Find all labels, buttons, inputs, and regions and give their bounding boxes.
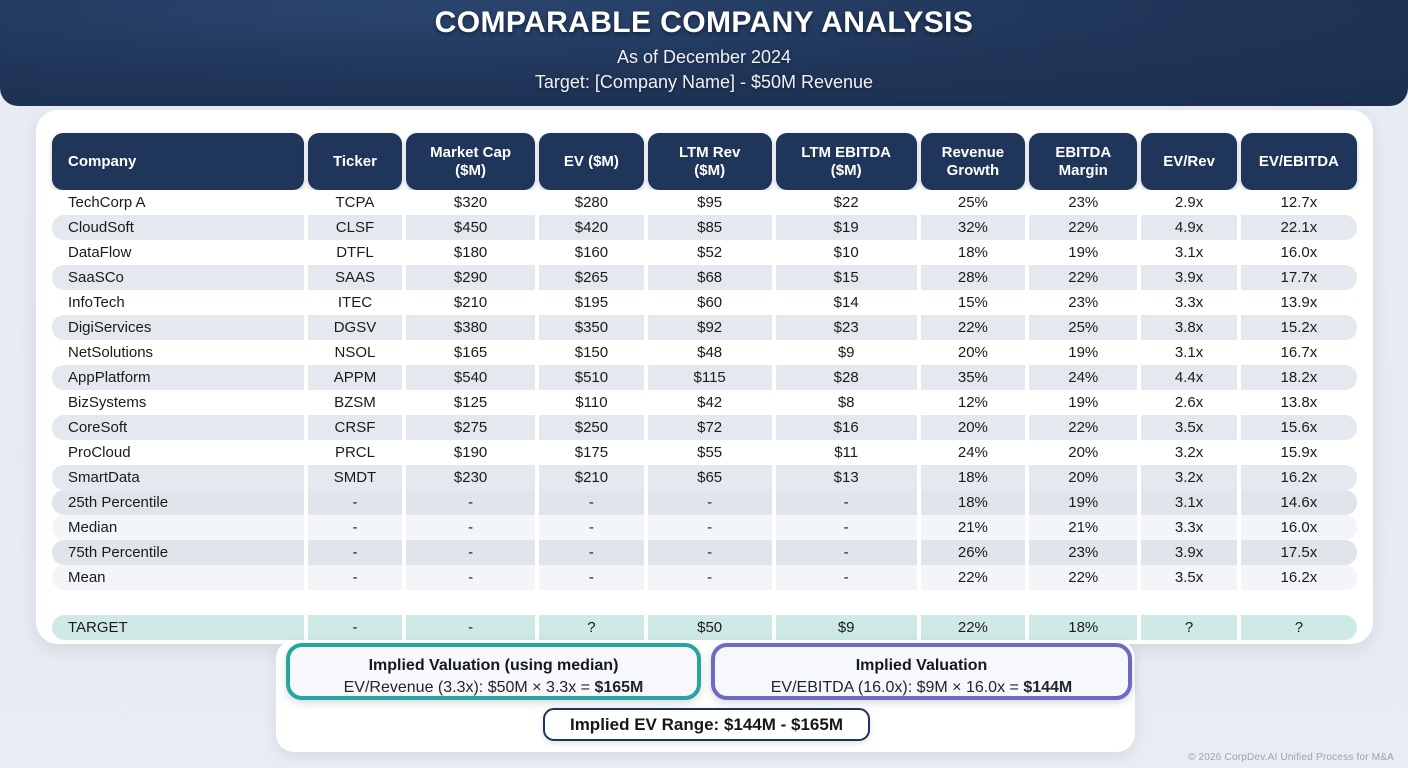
cell-ltm-ebitda-m: $23 [776,315,917,340]
cell-ev-ebitda: 14.6x [1241,490,1357,515]
table-header-row: CompanyTickerMarket Cap($M)EV ($M)LTM Re… [52,133,1357,190]
table-row[interactable]: SmartDataSMDT$230$210$65$1318%20%3.2x16.… [52,465,1357,490]
cell-revenue-growth: 18% [921,240,1025,265]
column-header-ltm-ebitda-m[interactable]: LTM EBITDA($M) [776,133,917,190]
median-box-detail-value: $165M [594,679,643,696]
row-label: TARGET [52,615,304,640]
cell-ebitda-margin: 21% [1029,515,1137,540]
column-header-ltm-rev-m[interactable]: LTM Rev($M) [648,133,772,190]
cell-ev-rev: 3.5x [1141,565,1236,590]
cell-ev-ebitda: 16.0x [1241,240,1357,265]
cell-ticker: DTFL [308,240,402,265]
cell-revenue-growth: 22% [921,565,1025,590]
cell-revenue-growth: 28% [921,265,1025,290]
cell-market-cap-m: $190 [406,440,535,465]
row-label: Median [52,515,304,540]
cell-ticker: - [308,515,402,540]
cell-ev-rev: 3.9x [1141,265,1236,290]
row-label: DataFlow [52,240,304,265]
cell-market-cap-m: $180 [406,240,535,265]
cell-ev-ebitda: 15.6x [1241,415,1357,440]
cell-ltm-ebitda-m: $8 [776,390,917,415]
implied-valuation-ebitda-box: Implied Valuation EV/EBITDA (16.0x): $9M… [711,643,1132,700]
cell-ebitda-margin: 19% [1029,390,1137,415]
cell-ev-m: $210 [539,465,643,490]
cell-ev-m: - [539,515,643,540]
implied-ev-range-badge: Implied EV Range: $144M - $165M [543,708,870,741]
cell-market-cap-m: $290 [406,265,535,290]
cell-ticker: APPM [308,365,402,390]
cell-ltm-ebitda-m: $19 [776,215,917,240]
row-spacer [52,590,1357,615]
cell-revenue-growth: 22% [921,615,1025,640]
row-label: InfoTech [52,290,304,315]
row-label: Mean [52,565,304,590]
cell-ev-ebitda: 13.9x [1241,290,1357,315]
cell-ltm-rev-m: $65 [648,465,772,490]
row-label: 25th Percentile [52,490,304,515]
table-body: TechCorp ATCPA$320$280$95$2225%23%2.9x12… [52,190,1357,640]
cell-revenue-growth: 22% [921,315,1025,340]
cell-revenue-growth: 18% [921,465,1025,490]
cell-ev-ebitda: 16.0x [1241,515,1357,540]
cell-ev-rev: 3.3x [1141,515,1236,540]
cell-ev-m: $195 [539,290,643,315]
cell-ev-ebitda: 13.8x [1241,390,1357,415]
cell-ltm-rev-m: $85 [648,215,772,240]
cell-ltm-ebitda-m: - [776,515,917,540]
page-title: COMPARABLE COMPANY ANALYSIS [0,6,1408,40]
table-row[interactable]: CloudSoftCLSF$450$420$85$1932%22%4.9x22.… [52,215,1357,240]
cell-revenue-growth: 26% [921,540,1025,565]
cell-ticker: SMDT [308,465,402,490]
median-box-detail: EV/Revenue (3.3x): $50M × 3.3x = $165M [290,678,697,698]
cell-market-cap-m: $275 [406,415,535,440]
cell-ticker: - [308,615,402,640]
column-header-ticker[interactable]: Ticker [308,133,402,190]
table-row[interactable]: AppPlatformAPPM$540$510$115$2835%24%4.4x… [52,365,1357,390]
cell-ebitda-margin: 22% [1029,415,1137,440]
cell-revenue-growth: 24% [921,440,1025,465]
row-spacer-cell [52,590,1357,615]
cell-ltm-rev-m: $72 [648,415,772,440]
row-label: TechCorp A [52,190,304,215]
stats-row[interactable]: 25th Percentile-----18%19%3.1x14.6x [52,490,1357,515]
column-header-ev-m[interactable]: EV ($M) [539,133,643,190]
cell-ticker: CRSF [308,415,402,440]
cell-ticker: TCPA [308,190,402,215]
cell-market-cap-m: - [406,515,535,540]
cell-ebitda-margin: 20% [1029,465,1137,490]
cell-ebitda-margin: 18% [1029,615,1137,640]
cell-ev-rev: 3.1x [1141,340,1236,365]
header-subtitle-date: As of December 2024 [0,47,1408,68]
target-row[interactable]: TARGET--?$50$922%18%?? [52,615,1357,640]
column-header-market-cap-m[interactable]: Market Cap($M) [406,133,535,190]
cell-revenue-growth: 20% [921,415,1025,440]
cell-ev-ebitda: 16.7x [1241,340,1357,365]
table-row[interactable]: ProCloudPRCL$190$175$55$1124%20%3.2x15.9… [52,440,1357,465]
cell-ev-rev: 3.1x [1141,240,1236,265]
cell-ltm-rev-m: $60 [648,290,772,315]
cell-ltm-rev-m: $92 [648,315,772,340]
column-header-ebitda-margin[interactable]: EBITDAMargin [1029,133,1137,190]
cell-market-cap-m: - [406,565,535,590]
cell-ev-rev: 3.9x [1141,540,1236,565]
cell-ticker: CLSF [308,215,402,240]
median-box-title: Implied Valuation (using median) [290,656,697,676]
cell-ltm-ebitda-m: $10 [776,240,917,265]
row-label: AppPlatform [52,365,304,390]
cell-ticker: BZSM [308,390,402,415]
cell-market-cap-m: $320 [406,190,535,215]
cell-revenue-growth: 32% [921,215,1025,240]
cell-ticker: DGSV [308,315,402,340]
cell-revenue-growth: 18% [921,490,1025,515]
cell-market-cap-m: $540 [406,365,535,390]
cell-ev-rev: 2.9x [1141,190,1236,215]
cell-ticker: ITEC [308,290,402,315]
cell-ev-m: $160 [539,240,643,265]
cell-ticker: SAAS [308,265,402,290]
column-header-revenue-growth[interactable]: RevenueGrowth [921,133,1025,190]
cell-ev-m: $250 [539,415,643,440]
cell-ebitda-margin: 23% [1029,190,1137,215]
cell-ev-rev: ? [1141,615,1236,640]
cell-ev-ebitda: 17.7x [1241,265,1357,290]
row-label: DigiServices [52,315,304,340]
cell-ltm-rev-m: $55 [648,440,772,465]
cell-market-cap-m: - [406,540,535,565]
ebitda-box-title: Implied Valuation [715,656,1128,676]
cell-market-cap-m: $210 [406,290,535,315]
cell-market-cap-m: $125 [406,390,535,415]
median-box-detail-prefix: EV/Revenue (3.3x): $50M × 3.3x = [344,679,595,696]
cell-ev-rev: 3.2x [1141,440,1236,465]
cell-ev-rev: 3.3x [1141,290,1236,315]
table-row[interactable]: InfoTechITEC$210$195$60$1415%23%3.3x13.9… [52,290,1357,315]
cell-ev-ebitda: 17.5x [1241,540,1357,565]
cell-revenue-growth: 12% [921,390,1025,415]
cell-ev-m: - [539,565,643,590]
row-label: CoreSoft [52,415,304,440]
cell-market-cap-m: $165 [406,340,535,365]
cell-ev-rev: 3.1x [1141,490,1236,515]
cell-ticker: NSOL [308,340,402,365]
cell-ev-m: $510 [539,365,643,390]
cell-market-cap-m: - [406,615,535,640]
cell-ltm-ebitda-m: $9 [776,615,917,640]
cell-revenue-growth: 35% [921,365,1025,390]
row-label: SaaSCo [52,265,304,290]
cell-ltm-rev-m: $95 [648,190,772,215]
cell-ticker: - [308,490,402,515]
cell-ev-m: $420 [539,215,643,240]
cell-ev-rev: 4.9x [1141,215,1236,240]
cell-ebitda-margin: 22% [1029,265,1137,290]
table-row[interactable]: SaaSCoSAAS$290$265$68$1528%22%3.9x17.7x [52,265,1357,290]
table-row[interactable]: DataFlowDTFL$180$160$52$1018%19%3.1x16.0… [52,240,1357,265]
cell-ev-m: - [539,540,643,565]
cell-ev-m: $150 [539,340,643,365]
header-banner: COMPARABLE COMPANY ANALYSIS As of Decemb… [0,0,1408,106]
cell-ltm-ebitda-m: $11 [776,440,917,465]
cell-ticker: PRCL [308,440,402,465]
cell-revenue-growth: 15% [921,290,1025,315]
cell-revenue-growth: 21% [921,515,1025,540]
cell-ev-rev: 4.4x [1141,365,1236,390]
column-header-company[interactable]: Company [52,133,304,190]
cell-ltm-rev-m: $68 [648,265,772,290]
cell-ltm-rev-m: $52 [648,240,772,265]
cell-ltm-ebitda-m: - [776,490,917,515]
footer-copyright: © 2026 CorpDev.AI Unified Process for M&… [1188,752,1394,763]
header-subtitle-target: Target: [Company Name] - $50M Revenue [0,72,1408,93]
cell-ev-ebitda: 16.2x [1241,565,1357,590]
cell-ebitda-margin: 23% [1029,290,1137,315]
cell-ev-rev: 3.2x [1141,465,1236,490]
column-header-ev-rev[interactable]: EV/Rev [1141,133,1236,190]
comparable-company-table: CompanyTickerMarket Cap($M)EV ($M)LTM Re… [48,133,1361,640]
cell-ltm-ebitda-m: - [776,540,917,565]
cell-ev-m: $350 [539,315,643,340]
cell-ev-m: $175 [539,440,643,465]
cell-ltm-rev-m: $115 [648,365,772,390]
cell-ltm-rev-m: - [648,565,772,590]
table-row[interactable]: CoreSoftCRSF$275$250$72$1620%22%3.5x15.6… [52,415,1357,440]
cell-ebitda-margin: 24% [1029,365,1137,390]
row-label: 75th Percentile [52,540,304,565]
cell-ebitda-margin: 19% [1029,490,1137,515]
column-header-ev-ebitda[interactable]: EV/EBITDA [1241,133,1357,190]
cell-ltm-rev-m: - [648,540,772,565]
cell-market-cap-m: - [406,490,535,515]
cell-ebitda-margin: 25% [1029,315,1137,340]
table-row[interactable]: DigiServicesDGSV$380$350$92$2322%25%3.8x… [52,315,1357,340]
cell-ltm-rev-m: $48 [648,340,772,365]
cell-ev-m: $280 [539,190,643,215]
cell-ltm-ebitda-m: $28 [776,365,917,390]
cell-ltm-rev-m: $42 [648,390,772,415]
cell-ev-ebitda: 18.2x [1241,365,1357,390]
cell-ltm-rev-m: $50 [648,615,772,640]
implied-valuation-median-box: Implied Valuation (using median) EV/Reve… [286,643,701,700]
cell-ebitda-margin: 22% [1029,215,1137,240]
ebitda-box-detail: EV/EBITDA (16.0x): $9M × 16.0x = $144M [715,678,1128,698]
row-label: NetSolutions [52,340,304,365]
table-row[interactable]: BizSystemsBZSM$125$110$42$812%19%2.6x13.… [52,390,1357,415]
cell-ebitda-margin: 22% [1029,565,1137,590]
cell-ltm-ebitda-m: - [776,565,917,590]
comps-table-card: CompanyTickerMarket Cap($M)EV ($M)LTM Re… [36,110,1373,644]
cell-ltm-ebitda-m: $22 [776,190,917,215]
cell-revenue-growth: 20% [921,340,1025,365]
table-row[interactable]: NetSolutionsNSOL$165$150$48$920%19%3.1x1… [52,340,1357,365]
row-label: CloudSoft [52,215,304,240]
cell-ltm-ebitda-m: $13 [776,465,917,490]
cell-ev-rev: 3.8x [1141,315,1236,340]
cell-ltm-rev-m: - [648,490,772,515]
cell-ev-ebitda: 16.2x [1241,465,1357,490]
cell-ev-m: $265 [539,265,643,290]
cell-ebitda-margin: 19% [1029,240,1137,265]
table-row[interactable]: TechCorp ATCPA$320$280$95$2225%23%2.9x12… [52,190,1357,215]
stats-row[interactable]: Median-----21%21%3.3x16.0x [52,515,1357,540]
cell-ticker: - [308,540,402,565]
row-label: BizSystems [52,390,304,415]
ebitda-box-detail-prefix: EV/EBITDA (16.0x): $9M × 16.0x = [771,679,1024,696]
cell-ev-rev: 3.5x [1141,415,1236,440]
cell-ev-ebitda: 12.7x [1241,190,1357,215]
cell-ltm-ebitda-m: $16 [776,415,917,440]
row-label: ProCloud [52,440,304,465]
cell-ltm-ebitda-m: $14 [776,290,917,315]
cell-ticker: - [308,565,402,590]
stats-row[interactable]: 75th Percentile-----26%23%3.9x17.5x [52,540,1357,565]
cell-ebitda-margin: 19% [1029,340,1137,365]
cell-ev-ebitda: ? [1241,615,1357,640]
stats-row[interactable]: Mean-----22%22%3.5x16.2x [52,565,1357,590]
cell-market-cap-m: $230 [406,465,535,490]
slide-root: COMPARABLE COMPANY ANALYSIS As of Decemb… [0,0,1408,768]
cell-ev-ebitda: 15.2x [1241,315,1357,340]
cell-market-cap-m: $380 [406,315,535,340]
cell-ev-m: $110 [539,390,643,415]
cell-market-cap-m: $450 [406,215,535,240]
ebitda-box-detail-value: $144M [1023,679,1072,696]
cell-ltm-rev-m: - [648,515,772,540]
cell-revenue-growth: 25% [921,190,1025,215]
cell-ev-ebitda: 15.9x [1241,440,1357,465]
cell-ltm-ebitda-m: $9 [776,340,917,365]
row-label: SmartData [52,465,304,490]
cell-ev-ebitda: 22.1x [1241,215,1357,240]
cell-ev-m: ? [539,615,643,640]
cell-ev-m: - [539,490,643,515]
cell-ebitda-margin: 23% [1029,540,1137,565]
cell-ltm-ebitda-m: $15 [776,265,917,290]
cell-ev-rev: 2.6x [1141,390,1236,415]
cell-ebitda-margin: 20% [1029,440,1137,465]
